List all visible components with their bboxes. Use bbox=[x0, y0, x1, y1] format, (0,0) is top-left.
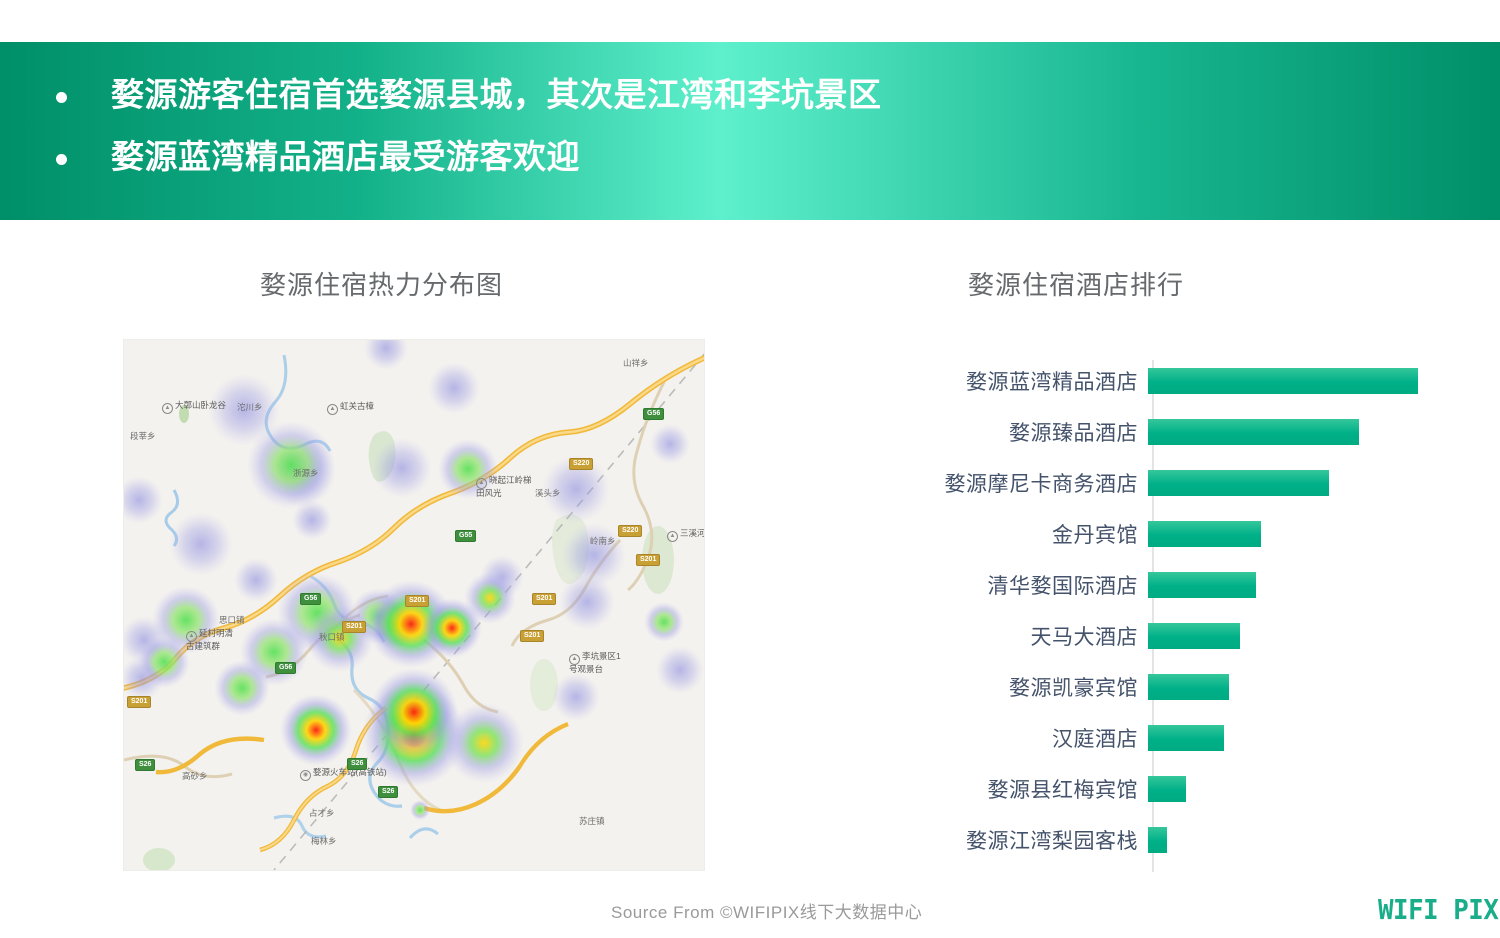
chart-bar-area bbox=[1146, 814, 1440, 865]
map-label: 高砂乡 bbox=[182, 771, 208, 781]
road-shield: S201 bbox=[636, 554, 660, 566]
chart-row: 婺源江湾梨园客栈 bbox=[860, 814, 1440, 865]
chart-row-label: 清华婺国际酒店 bbox=[860, 570, 1146, 600]
map-label: 占才乡 bbox=[309, 808, 335, 818]
poi-marker-icon: ▲ bbox=[327, 404, 338, 415]
chart-row-label: 婺源摩尼卡商务酒店 bbox=[860, 468, 1146, 498]
chart-row-label: 婺源县红梅宾馆 bbox=[860, 774, 1146, 804]
chart-bar-area bbox=[1146, 610, 1440, 661]
chart-row: 婺源蓝湾精品酒店 bbox=[860, 355, 1440, 406]
map-label: 浙源乡 bbox=[293, 468, 319, 478]
chart-bar[interactable] bbox=[1148, 827, 1167, 853]
header-bullet-text-2: 婺源蓝湾精品酒店最受游客欢迎 bbox=[111, 134, 580, 180]
chart-bar[interactable] bbox=[1148, 725, 1224, 751]
chart-row: 婺源凯豪宾馆 bbox=[860, 661, 1440, 712]
road-shield: S220 bbox=[618, 525, 642, 537]
road-shield: G56 bbox=[300, 593, 321, 605]
road-shield: S26 bbox=[378, 786, 398, 798]
chart-row-label: 金丹宾馆 bbox=[860, 519, 1146, 549]
map-label: 思口镇 bbox=[219, 615, 245, 625]
chart-bar[interactable] bbox=[1148, 521, 1261, 547]
map-label: 溪头乡 bbox=[535, 488, 561, 498]
map-label: ◉婺源火车站(高铁站) bbox=[300, 767, 387, 781]
source-credit: Source From ©WIFIPIX线下大数据中心 bbox=[611, 898, 922, 923]
chart-row-label: 婺源凯豪宾馆 bbox=[860, 672, 1146, 702]
map-section-title: 婺源住宿热力分布图 bbox=[260, 265, 503, 302]
header-banner: 婺源游客住宿首选婺源县城，其次是江湾和李坑景区 婺源蓝湾精品酒店最受游客欢迎 bbox=[0, 42, 1500, 220]
chart-bar-area bbox=[1146, 355, 1440, 406]
road-shield: G55 bbox=[455, 530, 476, 542]
poi-marker-icon: ▲ bbox=[162, 403, 173, 414]
map-label: ▲延村明清古建筑群 bbox=[186, 629, 238, 651]
road-shield: S26 bbox=[347, 758, 367, 770]
poi-marker-icon: ▲ bbox=[667, 531, 678, 542]
chart-bar-area bbox=[1146, 661, 1440, 712]
map-label: ▲晓起江岭梯田风光 bbox=[476, 476, 532, 498]
chart-bar-area bbox=[1146, 406, 1440, 457]
chart-row: 天马大酒店 bbox=[860, 610, 1440, 661]
map-label: ▲李坑景区1号观景台 bbox=[569, 652, 623, 674]
wifipix-logo: WIFI PIX bbox=[1378, 893, 1498, 926]
chart-bar[interactable] bbox=[1148, 419, 1359, 445]
map-label: 沱川乡 bbox=[237, 402, 263, 412]
map-label: 段莘乡 bbox=[130, 431, 156, 441]
road-shield: S201 bbox=[405, 595, 429, 607]
road-shield: G56 bbox=[643, 408, 664, 420]
chart-row-label: 婺源臻品酒店 bbox=[860, 417, 1146, 447]
train-station-icon: ◉ bbox=[300, 770, 311, 781]
chart-bar[interactable] bbox=[1148, 572, 1256, 598]
chart-row: 金丹宾馆 bbox=[860, 508, 1440, 559]
chart-bar[interactable] bbox=[1148, 623, 1240, 649]
chart-row-label: 婺源蓝湾精品酒店 bbox=[860, 366, 1146, 396]
chart-rows: 婺源蓝湾精品酒店婺源臻品酒店婺源摩尼卡商务酒店金丹宾馆清华婺国际酒店天马大酒店婺… bbox=[860, 355, 1440, 865]
map-label: ▲虹关古樟 bbox=[327, 401, 374, 415]
map-label: 梅林乡 bbox=[311, 836, 337, 846]
map-label: 岭南乡 bbox=[590, 536, 616, 546]
chart-row-label: 天马大酒店 bbox=[860, 621, 1146, 651]
chart-bar[interactable] bbox=[1148, 368, 1418, 394]
chart-bar-area bbox=[1146, 712, 1440, 763]
chart-bar[interactable] bbox=[1148, 776, 1186, 802]
header-bullet-item: 婺源游客住宿首选婺源县城，其次是江湾和李坑景区 bbox=[56, 72, 882, 118]
road-shield: S201 bbox=[127, 696, 151, 708]
road-shield: S201 bbox=[342, 621, 366, 633]
chart-bar-area bbox=[1146, 559, 1440, 610]
road-shield: G56 bbox=[275, 662, 296, 674]
chart-row-label: 汉庭酒店 bbox=[860, 723, 1146, 753]
heatmap-map[interactable]: ▲大鄣山卧龙谷 沱川乡 ▲虹关古樟 段莘乡 浙源乡 山祥乡 ▲晓起江岭梯田风光 … bbox=[124, 340, 704, 870]
map-label: 山祥乡 bbox=[623, 358, 649, 368]
road-shield: S201 bbox=[532, 593, 556, 605]
bullet-dot-icon bbox=[56, 154, 67, 165]
map-label: 秋口镇 bbox=[319, 632, 345, 642]
header-bullet-list: 婺源游客住宿首选婺源县城，其次是江湾和李坑景区 婺源蓝湾精品酒店最受游客欢迎 bbox=[56, 72, 882, 180]
header-bullet-item: 婺源蓝湾精品酒店最受游客欢迎 bbox=[56, 134, 882, 180]
map-label: 苏庄镇 bbox=[579, 816, 605, 826]
chart-row: 婺源县红梅宾馆 bbox=[860, 763, 1440, 814]
chart-bar-area bbox=[1146, 763, 1440, 814]
bullet-dot-icon bbox=[56, 92, 67, 103]
chart-bar-area bbox=[1146, 508, 1440, 559]
chart-row: 清华婺国际酒店 bbox=[860, 559, 1440, 610]
map-label: ▲三溪河 bbox=[667, 528, 704, 542]
chart-row-label: 婺源江湾梨园客栈 bbox=[860, 825, 1146, 855]
chart-bar[interactable] bbox=[1148, 470, 1329, 496]
road-shield: S220 bbox=[569, 458, 593, 470]
road-shield: S26 bbox=[135, 759, 155, 771]
hotel-ranking-chart: 婺源蓝湾精品酒店婺源臻品酒店婺源摩尼卡商务酒店金丹宾馆清华婺国际酒店天马大酒店婺… bbox=[860, 355, 1440, 875]
chart-bar[interactable] bbox=[1148, 674, 1229, 700]
chart-row: 汉庭酒店 bbox=[860, 712, 1440, 763]
slide-root: 婺源游客住宿首选婺源县城，其次是江湾和李坑景区 婺源蓝湾精品酒店最受游客欢迎 婺… bbox=[0, 0, 1500, 938]
chart-row: 婺源臻品酒店 bbox=[860, 406, 1440, 457]
ranking-section-title: 婺源住宿酒店排行 bbox=[968, 265, 1184, 302]
map-label: ▲大鄣山卧龙谷 bbox=[162, 400, 226, 414]
chart-row: 婺源摩尼卡商务酒店 bbox=[860, 457, 1440, 508]
header-bullet-text-1: 婺源游客住宿首选婺源县城，其次是江湾和李坑景区 bbox=[111, 72, 882, 118]
chart-bar-area bbox=[1146, 457, 1440, 508]
road-shield: S201 bbox=[520, 630, 544, 642]
